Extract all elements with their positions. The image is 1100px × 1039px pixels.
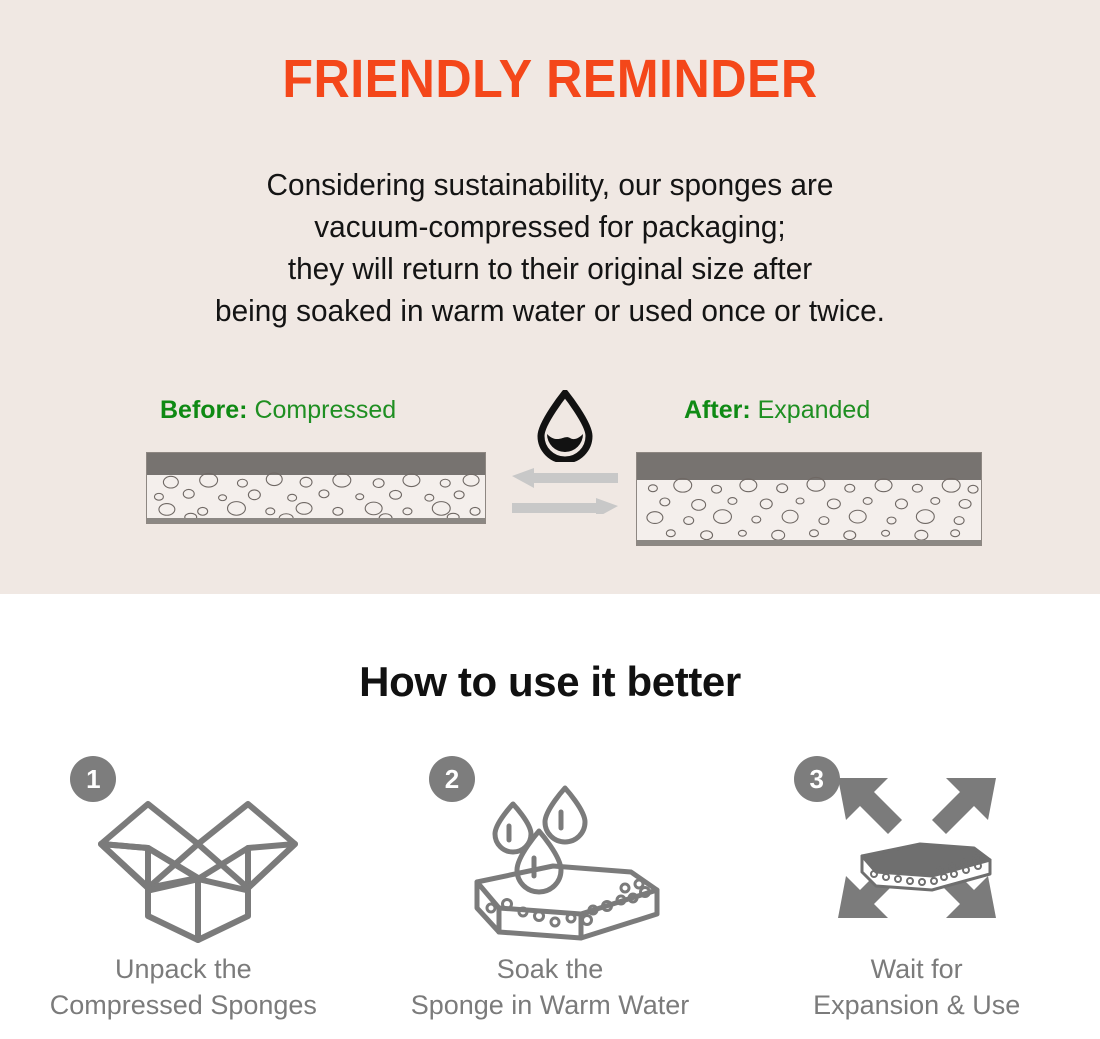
transform-indicator: [512, 390, 618, 520]
sponge-pores: [637, 453, 981, 545]
intro-paragraph: Considering sustainability, our sponges …: [22, 164, 1078, 332]
two-way-arrows-icon: [512, 468, 618, 514]
reminder-panel: FRIENDLY REMINDER Considering sustainabi…: [0, 0, 1100, 594]
step-caption: Wait for Expansion & Use: [813, 951, 1020, 1023]
step-item: 1 Unpack the Compressed Sponges: [0, 748, 367, 1038]
step-caption: Unpack the Compressed Sponges: [50, 951, 317, 1023]
step-caption: Soak the Sponge in Warm Water: [411, 951, 690, 1023]
before-label-light: Compressed: [254, 396, 396, 424]
page-title: FRIENDLY REMINDER: [39, 52, 1062, 106]
step-caption-line1: Wait for: [813, 951, 1020, 987]
step-item: 2: [367, 748, 734, 1038]
infographic-page: FRIENDLY REMINDER Considering sustainabi…: [0, 0, 1100, 1039]
intro-line-4: being soaked in warm water or used once …: [22, 290, 1078, 332]
step-number-badge: 2: [429, 756, 475, 802]
sponge-bottom-band: [637, 540, 981, 545]
compressed-sponge-illustration: [146, 452, 486, 524]
sponge-bottom-band: [147, 518, 485, 523]
before-label: Before: Compressed: [160, 398, 396, 423]
step-caption-line1: Soak the: [411, 951, 690, 987]
after-label-strong: After:: [684, 396, 751, 424]
step-art: 2: [435, 748, 665, 943]
step-item: 3: [733, 748, 1100, 1038]
intro-line-3: they will return to their original size …: [22, 248, 1078, 290]
intro-line-1: Considering sustainability, our sponges …: [22, 164, 1078, 206]
step-caption-line1: Unpack the: [50, 951, 317, 987]
step-number-badge: 3: [794, 756, 840, 802]
section-heading: How to use it better: [0, 661, 1100, 703]
before-label-strong: Before:: [160, 396, 248, 424]
expanded-sponge-illustration: [636, 452, 982, 546]
steps-list: 1 Unpack the Compressed Sponges: [0, 748, 1100, 1038]
sponge-pores: [147, 453, 485, 523]
intro-line-2: vacuum-compressed for packaging;: [22, 206, 1078, 248]
step-caption-line2: Expansion & Use: [813, 987, 1020, 1023]
water-drop-icon: [534, 390, 596, 462]
step-number-badge: 1: [70, 756, 116, 802]
step-caption-line2: Compressed Sponges: [50, 987, 317, 1023]
step-art: 3: [802, 748, 1032, 943]
step-art: 1: [68, 748, 298, 943]
step-caption-line2: Sponge in Warm Water: [411, 987, 690, 1023]
after-label: After: Expanded: [684, 398, 870, 423]
after-label-light: Expanded: [758, 396, 871, 424]
